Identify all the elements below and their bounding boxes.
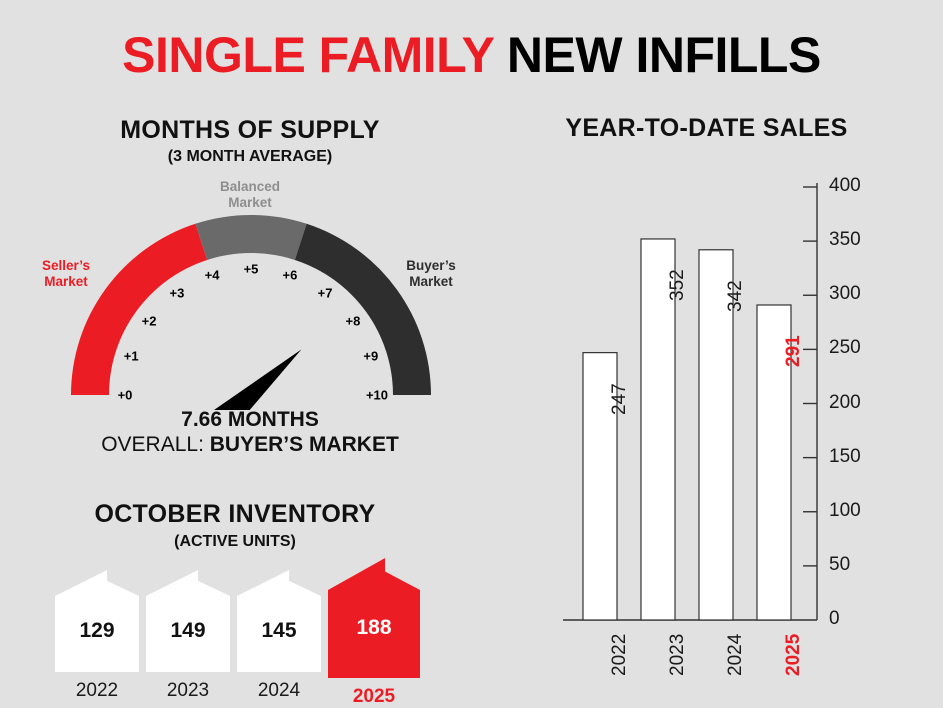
y-axis-label: 150: [829, 446, 861, 468]
gauge-tick-5: +5: [244, 262, 259, 277]
house-year-label: 2025: [328, 686, 420, 708]
page-title-red: SINGLE FAMILY: [122, 27, 493, 83]
house-year-label: 2024: [237, 680, 321, 702]
gauge-value-text: 7.66 MONTHS: [0, 408, 500, 432]
bar-category-label: 2022: [609, 634, 631, 676]
gauge-tick-3: +3: [170, 286, 185, 301]
months-of-supply-subtitle: (3 MONTH AVERAGE): [0, 148, 500, 166]
october-inventory-houses: 1292022149202314520241882025: [55, 552, 455, 672]
months-of-supply-title: MONTHS OF SUPPLY: [0, 116, 500, 145]
house-year-label: 2023: [146, 680, 230, 702]
gauge-segment-buyers: [295, 224, 431, 395]
bar-chart-svg: [555, 175, 935, 675]
gauge-tick-1: +1: [124, 349, 139, 364]
inventory-house-2024: 1452024: [237, 570, 321, 672]
october-inventory-subtitle: (ACTIVE UNITS): [0, 533, 470, 551]
y-axis-label: 350: [829, 229, 861, 251]
house-year-label: 2022: [55, 680, 139, 702]
bar-value-label: 352: [667, 269, 689, 301]
gauge-tick-0: +0: [118, 388, 133, 403]
gauge-needle: [207, 349, 301, 410]
months-of-supply-gauge: +0+1+2+3+4+5+6+7+8+9+10: [40, 170, 470, 410]
inventory-house-2023: 1492023: [146, 570, 230, 672]
gauge-overall-prefix: OVERALL:: [101, 433, 210, 456]
gauge-segment-balanced: [195, 215, 306, 260]
page-title: SINGLE FAMILY NEW INFILLS: [0, 26, 943, 84]
gauge-needle-shape: [207, 349, 301, 410]
infographic-canvas: SINGLE FAMILY NEW INFILLS MONTHS OF SUPP…: [0, 0, 943, 707]
gauge-tick-6: +6: [283, 268, 298, 283]
bar-value-label: 342: [725, 280, 747, 312]
gauge-svg: [40, 170, 470, 410]
gauge-segment-sellers: [71, 224, 207, 395]
bar-category-label: 2025: [783, 634, 805, 676]
inventory-house-2022: 1292022: [55, 570, 139, 672]
gauge-tick-9: +9: [363, 349, 378, 364]
gauge-tick-8: +8: [346, 313, 361, 328]
y-axis-label: 200: [829, 392, 861, 414]
bar-value-label: 291: [783, 335, 805, 367]
page-title-black: NEW INFILLS: [494, 27, 821, 83]
inventory-house-2025: 1882025: [328, 558, 420, 678]
house-value: 149: [146, 619, 230, 643]
house-value: 145: [237, 619, 321, 643]
y-axis-label: 300: [829, 283, 861, 305]
gauge-tick-4: +4: [205, 268, 220, 283]
gauge-overall-text: OVERALL: BUYER’S MARKET: [0, 433, 500, 457]
year-to-date-sales-chart: 0501001502002503003504002472022352202334…: [555, 175, 935, 675]
house-value: 188: [328, 616, 420, 640]
y-axis-label: 400: [829, 175, 861, 197]
bar-category-label: 2024: [725, 634, 747, 676]
gauge-tick-2: +2: [142, 313, 157, 328]
year-to-date-sales-title: YEAR-TO-DATE SALES: [470, 114, 943, 143]
y-axis-label: 100: [829, 500, 861, 522]
bar-category-label: 2023: [667, 634, 689, 676]
house-value: 129: [55, 619, 139, 643]
gauge-tick-10: +10: [366, 388, 388, 403]
gauge-tick-7: +7: [318, 286, 333, 301]
y-axis-label: 50: [829, 554, 850, 576]
y-axis-label: 250: [829, 337, 861, 359]
gauge-arc-group: [71, 215, 431, 395]
y-axis-label: 0: [829, 608, 840, 630]
bar-value-label: 247: [609, 383, 631, 415]
gauge-overall-value: BUYER’S MARKET: [210, 433, 399, 456]
october-inventory-title: OCTOBER INVENTORY: [0, 500, 470, 529]
